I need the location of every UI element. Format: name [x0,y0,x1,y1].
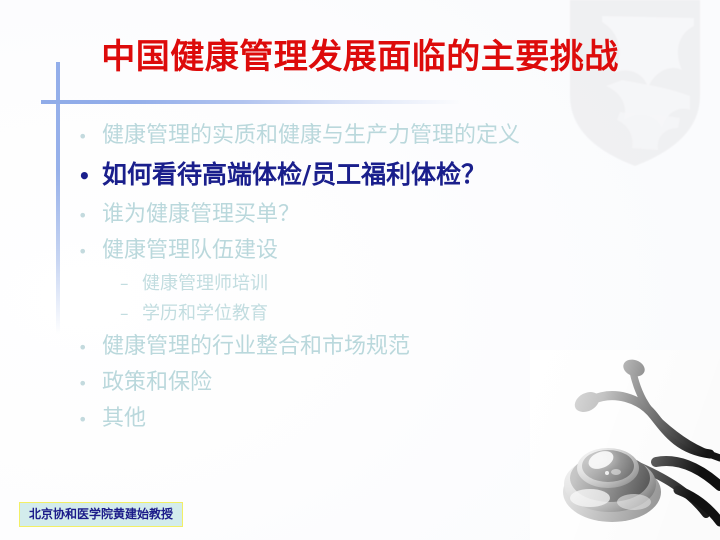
dash-marker-icon: – [120,299,142,329]
list-item-label: 谁为健康管理买单？ [102,197,300,232]
dash-marker-icon: – [120,269,142,299]
horizontal-accent-rule [41,100,461,104]
sub-list-item: – 学历和学位教育 [78,299,678,329]
bullet-marker-icon: • [78,330,102,365]
slide-canvas: 中国健康管理发展面临的主要挑战 • 健康管理的实质和健康与生产力管理的定义 • … [0,0,720,540]
list-item-label: 其他 [102,401,146,436]
sub-list-item-label: 健康管理师培训 [142,269,268,299]
bullet-marker-icon: • [78,402,102,437]
sub-list-item: – 健康管理师培训 [78,269,678,299]
list-item-label: 健康管理的实质和健康与生产力管理的定义 [102,118,520,153]
list-item: • 谁为健康管理买单？ [78,197,678,233]
bullet-marker-icon: • [78,366,102,401]
list-item-label: 如何看待高端体检/员工福利体检？ [102,154,486,195]
list-item-label: 健康管理的行业整合和市场规范 [102,329,410,364]
stethoscope-photo [530,350,720,540]
list-item: • 健康管理队伍建设 [78,233,678,269]
page-title: 中国健康管理发展面临的主要挑战 [0,38,720,76]
list-item: • 健康管理的实质和健康与生产力管理的定义 [78,118,678,154]
bullet-marker-icon: • [78,198,102,233]
list-item-highlighted: • 如何看待高端体检/员工福利体检？ [78,154,678,197]
bullet-marker-icon: • [78,119,102,154]
bullet-marker-icon: • [78,234,102,269]
list-item-label: 健康管理队伍建设 [102,233,278,268]
sub-list-item-label: 学历和学位教育 [142,299,268,329]
list-item-label: 政策和保险 [102,365,212,400]
bullet-marker-icon: • [78,156,102,197]
footer-credit-box: 北京协和医学院黄建始教授 [19,502,183,527]
